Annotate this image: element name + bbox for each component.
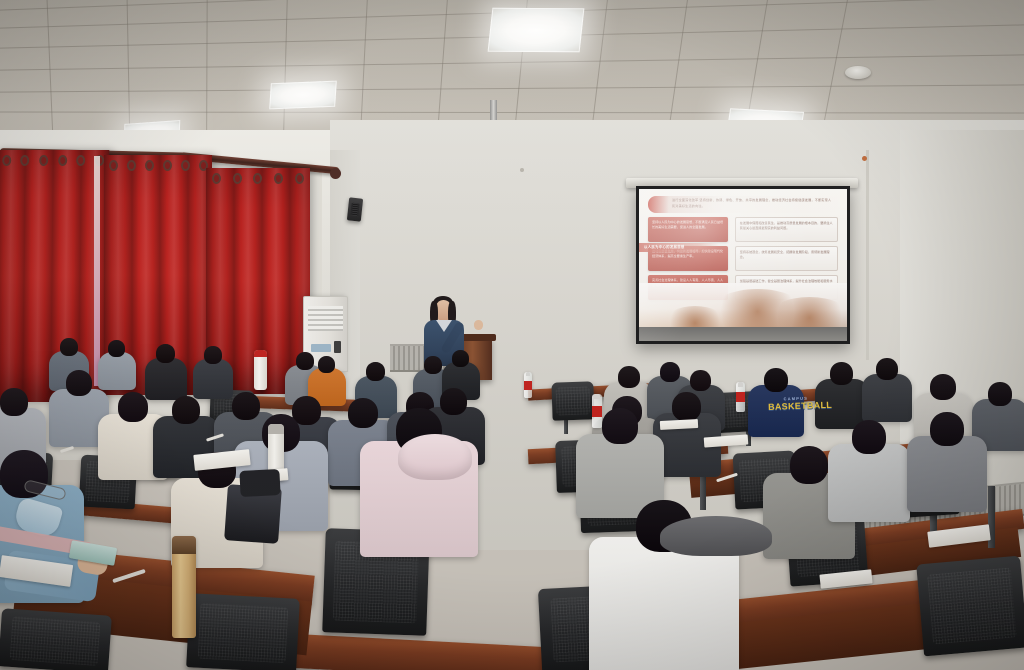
wall-conduit (866, 150, 869, 360)
slide-cell-red-1: 坚持以人民为中心的发展思想，不断满足人民日益增长的美好生活需要，促进人的全面发展… (648, 217, 728, 242)
slide-content: 进行全面深化改革 坚持创新、协调、绿色、开放、共享的发展理念，推动经济社会持续健… (639, 189, 847, 341)
ceiling-light-2 (269, 81, 337, 110)
thermos-bottle-white-2[interactable] (254, 350, 267, 390)
bag-2[interactable] (239, 469, 280, 497)
presenter-hand (474, 320, 483, 330)
student-basketball-jacket-head (764, 368, 788, 392)
water-bottle-red-label-1[interactable] (592, 394, 602, 428)
screen-bottom-bar (639, 327, 847, 341)
chair-17[interactable] (916, 556, 1024, 657)
student-back-9-head (452, 350, 469, 367)
student-back-1-head (60, 338, 78, 356)
student-mid-11-torso (828, 444, 910, 522)
student-mid-8-head (440, 388, 467, 415)
student-cream-coat-head (118, 392, 148, 422)
student-mid-2-head (0, 388, 28, 416)
student-back-13-head (830, 362, 853, 385)
student-back-4-torso (193, 359, 233, 399)
white-hoodie-hood (660, 516, 772, 556)
slide-banner-text: 进行全面深化改革 坚持创新、协调、绿色、开放、共享的发展理念，推动经济社会持续健… (672, 198, 834, 209)
projection-screen[interactable]: 进行全面深化改革 坚持创新、协调、绿色、开放、共享的发展理念，推动经济社会持续健… (636, 186, 850, 344)
student-mid-4-head (232, 392, 260, 420)
student-mid-3-head (172, 396, 200, 424)
student-mid-12-head (930, 412, 964, 446)
student-back-6-head (318, 356, 335, 373)
curtain-grommets-1 (0, 152, 109, 168)
slide-cell-light-2: 坚持系统观念，统筹发展和安全，把握新发展阶段，贯彻新发展理念。 (735, 246, 838, 271)
student-back-16-head (988, 382, 1012, 406)
water-bottle-red-label-3[interactable] (524, 372, 532, 398)
student-back-5-head (296, 352, 314, 370)
slide-cell-light-1: 在发展中保障和改善民生，是推动高质量发展的根本目的，要抓住人民最关心最直接最现实… (735, 217, 838, 242)
student-back-4-head (204, 346, 222, 364)
student-back-3-torso (145, 358, 187, 400)
student-mid-10-head (672, 392, 701, 421)
pink-hoodie-hood (398, 434, 472, 480)
student-back-14-head (876, 358, 898, 380)
student-mid-1-head (66, 370, 92, 396)
student-back-12-head (690, 370, 711, 391)
wall-fitting (862, 156, 867, 161)
student-mid-12-torso (907, 436, 987, 512)
student-back-11-head (660, 362, 680, 382)
smoke-detector-icon (845, 66, 871, 79)
wall-fitting-2 (520, 168, 524, 172)
student-back-10-head (618, 366, 640, 388)
ac-display-panel (311, 344, 331, 352)
student-mid-6-head (348, 398, 378, 428)
student-mid-11-head (852, 420, 886, 454)
student-back-3-head (156, 344, 175, 363)
student-near-3-head (602, 408, 638, 444)
curtain-rod-finial (330, 168, 341, 179)
chair-15[interactable] (0, 608, 112, 670)
slide-banner: 进行全面深化改革 坚持创新、协调、绿色、开放、共享的发展理念，推动经济社会持续健… (648, 196, 838, 213)
ac-control-knob[interactable] (334, 341, 341, 353)
student-back-15-head (930, 374, 956, 400)
slide-highlight-callout: 以人民为中心的发展思想 (636, 243, 719, 252)
curtain-grommets-3 (206, 170, 310, 186)
chair-1[interactable] (551, 381, 594, 420)
student-back-14-torso (862, 374, 912, 422)
curtain-grommets-2 (104, 157, 212, 173)
student-white-hoodie-torso (589, 537, 739, 670)
curtain-light-slit (94, 156, 100, 386)
student-back-7-head (366, 362, 385, 381)
student-basketball-jacket-torso (748, 385, 804, 437)
water-bottle-red-label-2[interactable] (736, 382, 745, 412)
chair-18[interactable] (186, 593, 300, 670)
thermos-bottle-tan[interactable] (172, 536, 196, 638)
ac-vent (308, 306, 342, 331)
classroom-photo: 进行全面深化改革 坚持创新、协调、绿色、开放、共享的发展理念，推动经济社会持续健… (0, 0, 1024, 670)
student-grey-plaid-head (790, 446, 828, 484)
wall-speaker (347, 197, 363, 221)
ceiling-light-1 (488, 8, 585, 52)
slide-row-1: 坚持以人民为中心的发展思想，不断满足人民日益增长的美好生活需要，促进人的全面发展… (648, 217, 838, 242)
student-back-2-head (108, 340, 125, 357)
student-back-2-torso (98, 352, 136, 390)
student-back-8-head (424, 356, 442, 374)
